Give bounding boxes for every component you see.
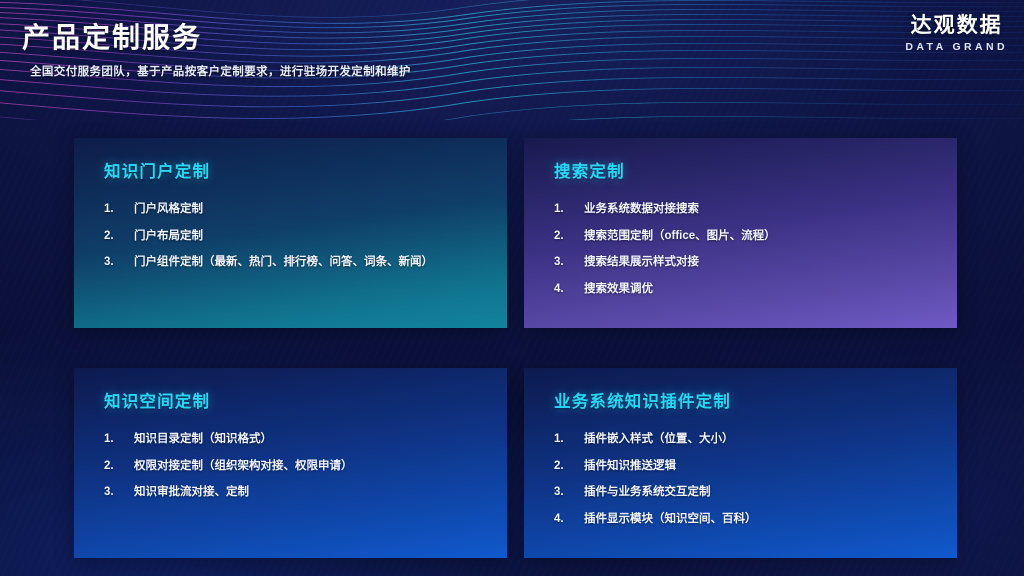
list-item-number: 4. <box>554 282 584 298</box>
list-item-text: 门户风格定制 <box>134 202 489 218</box>
slide-canvas: 产品定制服务 全国交付服务团队，基于产品按客户定制要求，进行驻场开发定制和维护 … <box>0 0 1024 576</box>
list-item: 3. 知识审批流对接、定制 <box>104 485 489 501</box>
list-item-text: 门户布局定制 <box>134 229 489 245</box>
list-item-number: 3. <box>554 485 584 501</box>
list-item: 1. 门户风格定制 <box>104 202 489 218</box>
list-item: 1. 业务系统数据对接搜索 <box>554 202 939 218</box>
list-item-text: 业务系统数据对接搜索 <box>584 202 939 218</box>
list-item-number: 2. <box>104 229 134 245</box>
card-title: 业务系统知识插件定制 <box>554 388 939 412</box>
list-item: 1. 插件嵌入样式（位置、大小） <box>554 432 939 448</box>
list-item-text: 门户组件定制（最新、热门、排行榜、问答、词条、新闻） <box>134 255 489 271</box>
list-item-text: 插件嵌入样式（位置、大小） <box>584 432 939 448</box>
list-item-text: 知识目录定制（知识格式） <box>134 432 489 448</box>
list-item: 2. 插件知识推送逻辑 <box>554 459 939 475</box>
list-item: 3. 门户组件定制（最新、热门、排行榜、问答、词条、新闻） <box>104 255 489 271</box>
list-item-number: 3. <box>554 255 584 271</box>
list-item-text: 插件与业务系统交互定制 <box>584 485 939 501</box>
card-item-list: 1. 业务系统数据对接搜索 2. 搜索范围定制（office、图片、流程） 3.… <box>554 202 939 297</box>
list-item-number: 1. <box>554 432 584 448</box>
cards-grid: 知识门户定制 1. 门户风格定制 2. 门户布局定制 3. 门户组件定制（最新、… <box>74 138 964 548</box>
list-item-number: 1. <box>104 432 134 448</box>
brand-name-en: DATA GRAND <box>905 41 1008 53</box>
brand-logo: 达观数据 DATA GRAND <box>905 14 1008 53</box>
brand-name-cn: 达观数据 <box>905 14 1008 38</box>
card-item-list: 1. 知识目录定制（知识格式） 2. 权限对接定制（组织架构对接、权限申请） 3… <box>104 432 489 501</box>
page-title: 产品定制服务 <box>22 16 202 56</box>
page-subtitle: 全国交付服务团队，基于产品按客户定制要求，进行驻场开发定制和维护 <box>30 63 411 79</box>
list-item: 4. 搜索效果调优 <box>554 282 939 298</box>
list-item: 3. 搜索结果展示样式对接 <box>554 255 939 271</box>
card-title: 知识门户定制 <box>104 158 489 182</box>
list-item: 2. 权限对接定制（组织架构对接、权限申请） <box>104 459 489 475</box>
card-item-list: 1. 插件嵌入样式（位置、大小） 2. 插件知识推送逻辑 3. 插件与业务系统交… <box>554 432 939 527</box>
list-item: 1. 知识目录定制（知识格式） <box>104 432 489 448</box>
list-item: 2. 搜索范围定制（office、图片、流程） <box>554 229 939 245</box>
card-title: 知识空间定制 <box>104 388 489 412</box>
list-item-number: 2. <box>554 459 584 475</box>
list-item-number: 3. <box>104 485 134 501</box>
card-knowledge-portal[interactable]: 知识门户定制 1. 门户风格定制 2. 门户布局定制 3. 门户组件定制（最新、… <box>74 138 507 328</box>
list-item-text: 搜索结果展示样式对接 <box>584 255 939 271</box>
list-item: 4. 插件显示模块（知识空间、百科） <box>554 512 939 528</box>
list-item-number: 2. <box>104 459 134 475</box>
card-item-list: 1. 门户风格定制 2. 门户布局定制 3. 门户组件定制（最新、热门、排行榜、… <box>104 202 489 271</box>
card-title: 搜索定制 <box>554 158 939 182</box>
list-item-text: 知识审批流对接、定制 <box>134 485 489 501</box>
list-item-number: 2. <box>554 229 584 245</box>
slide-header: 产品定制服务 全国交付服务团队，基于产品按客户定制要求，进行驻场开发定制和维护 … <box>0 0 1024 100</box>
list-item-number: 1. <box>104 202 134 218</box>
list-item-number: 1. <box>554 202 584 218</box>
list-item-number: 4. <box>554 512 584 528</box>
card-business-system-plugin[interactable]: 业务系统知识插件定制 1. 插件嵌入样式（位置、大小） 2. 插件知识推送逻辑 … <box>524 368 957 558</box>
card-search-customization[interactable]: 搜索定制 1. 业务系统数据对接搜索 2. 搜索范围定制（office、图片、流… <box>524 138 957 328</box>
list-item-text: 插件显示模块（知识空间、百科） <box>584 512 939 528</box>
list-item-text: 权限对接定制（组织架构对接、权限申请） <box>134 459 489 475</box>
list-item: 2. 门户布局定制 <box>104 229 489 245</box>
list-item: 3. 插件与业务系统交互定制 <box>554 485 939 501</box>
list-item-text: 搜索效果调优 <box>584 282 939 298</box>
list-item-text: 搜索范围定制（office、图片、流程） <box>584 229 939 245</box>
card-knowledge-space[interactable]: 知识空间定制 1. 知识目录定制（知识格式） 2. 权限对接定制（组织架构对接、… <box>74 368 507 558</box>
list-item-number: 3. <box>104 255 134 271</box>
list-item-text: 插件知识推送逻辑 <box>584 459 939 475</box>
